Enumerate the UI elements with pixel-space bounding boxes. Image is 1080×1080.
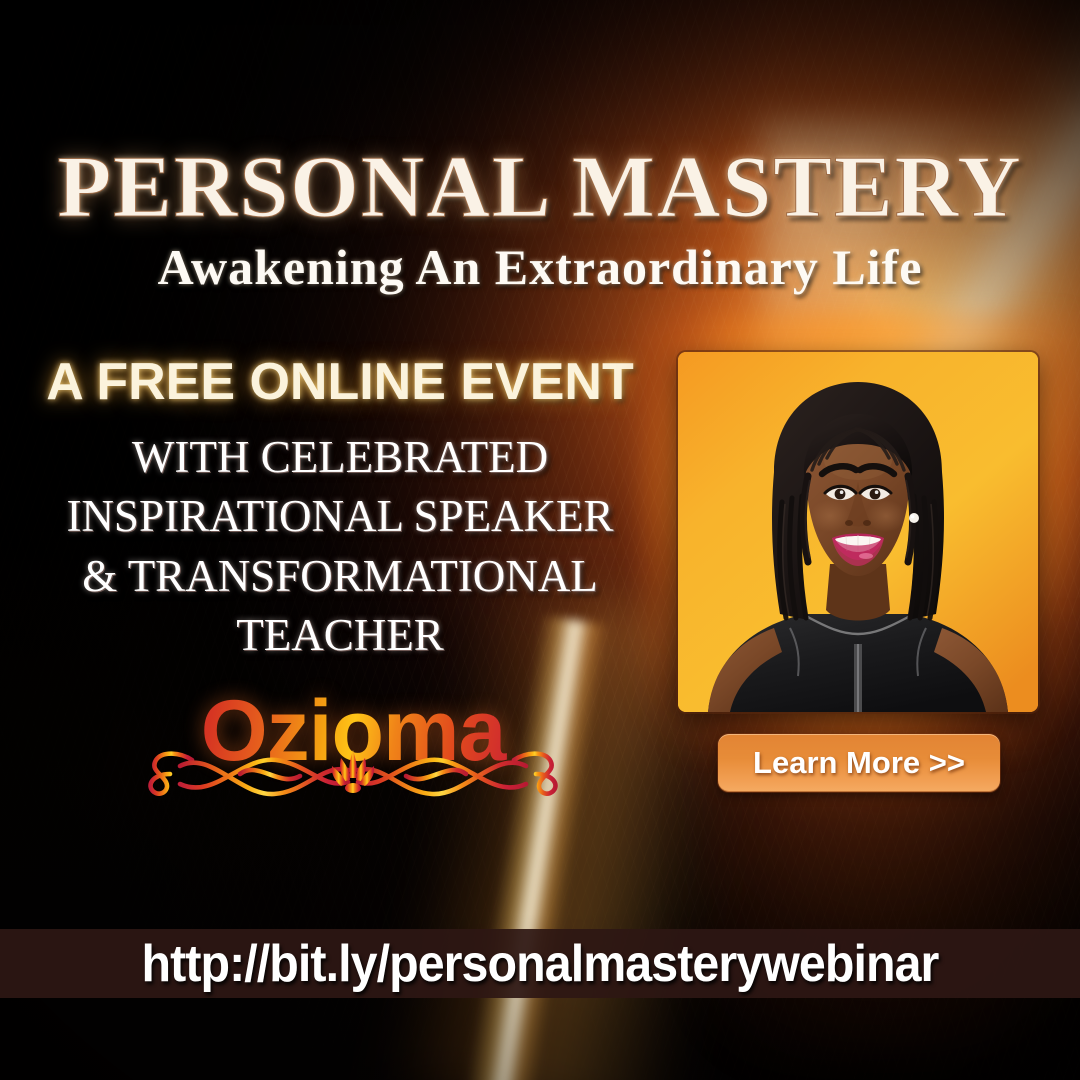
promo-poster: PERSONAL MASTERY Awakening An Extraordin… — [0, 0, 1080, 1080]
speaker-description-line: INSPIRATIONAL SPEAKER — [24, 487, 656, 546]
learn-more-button[interactable]: Learn More >> — [718, 734, 1000, 792]
event-copy-block: A FREE ONLINE EVENT WITH CELEBRATED INSP… — [24, 352, 656, 666]
brand-logo: Ozioma — [148, 688, 558, 806]
speaker-description-line: TEACHER — [24, 606, 656, 665]
page-title: PERSONAL MASTERY — [0, 137, 1080, 238]
speaker-description: WITH CELEBRATED INSPIRATIONAL SPEAKER & … — [24, 428, 656, 666]
webinar-url[interactable]: http://bit.ly/personalmasterywebinar — [38, 934, 1042, 994]
speaker-portrait — [678, 352, 1038, 712]
ornamental-swirl-divider-icon — [140, 744, 566, 806]
event-eyebrow: A FREE ONLINE EVENT — [24, 352, 656, 412]
speaker-description-line: & TRANSFORMATIONAL — [24, 547, 656, 606]
portrait-illustration — [678, 352, 1038, 712]
page-subtitle: Awakening An Extraordinary Life — [0, 238, 1080, 296]
speaker-description-line: WITH CELEBRATED — [24, 428, 656, 487]
